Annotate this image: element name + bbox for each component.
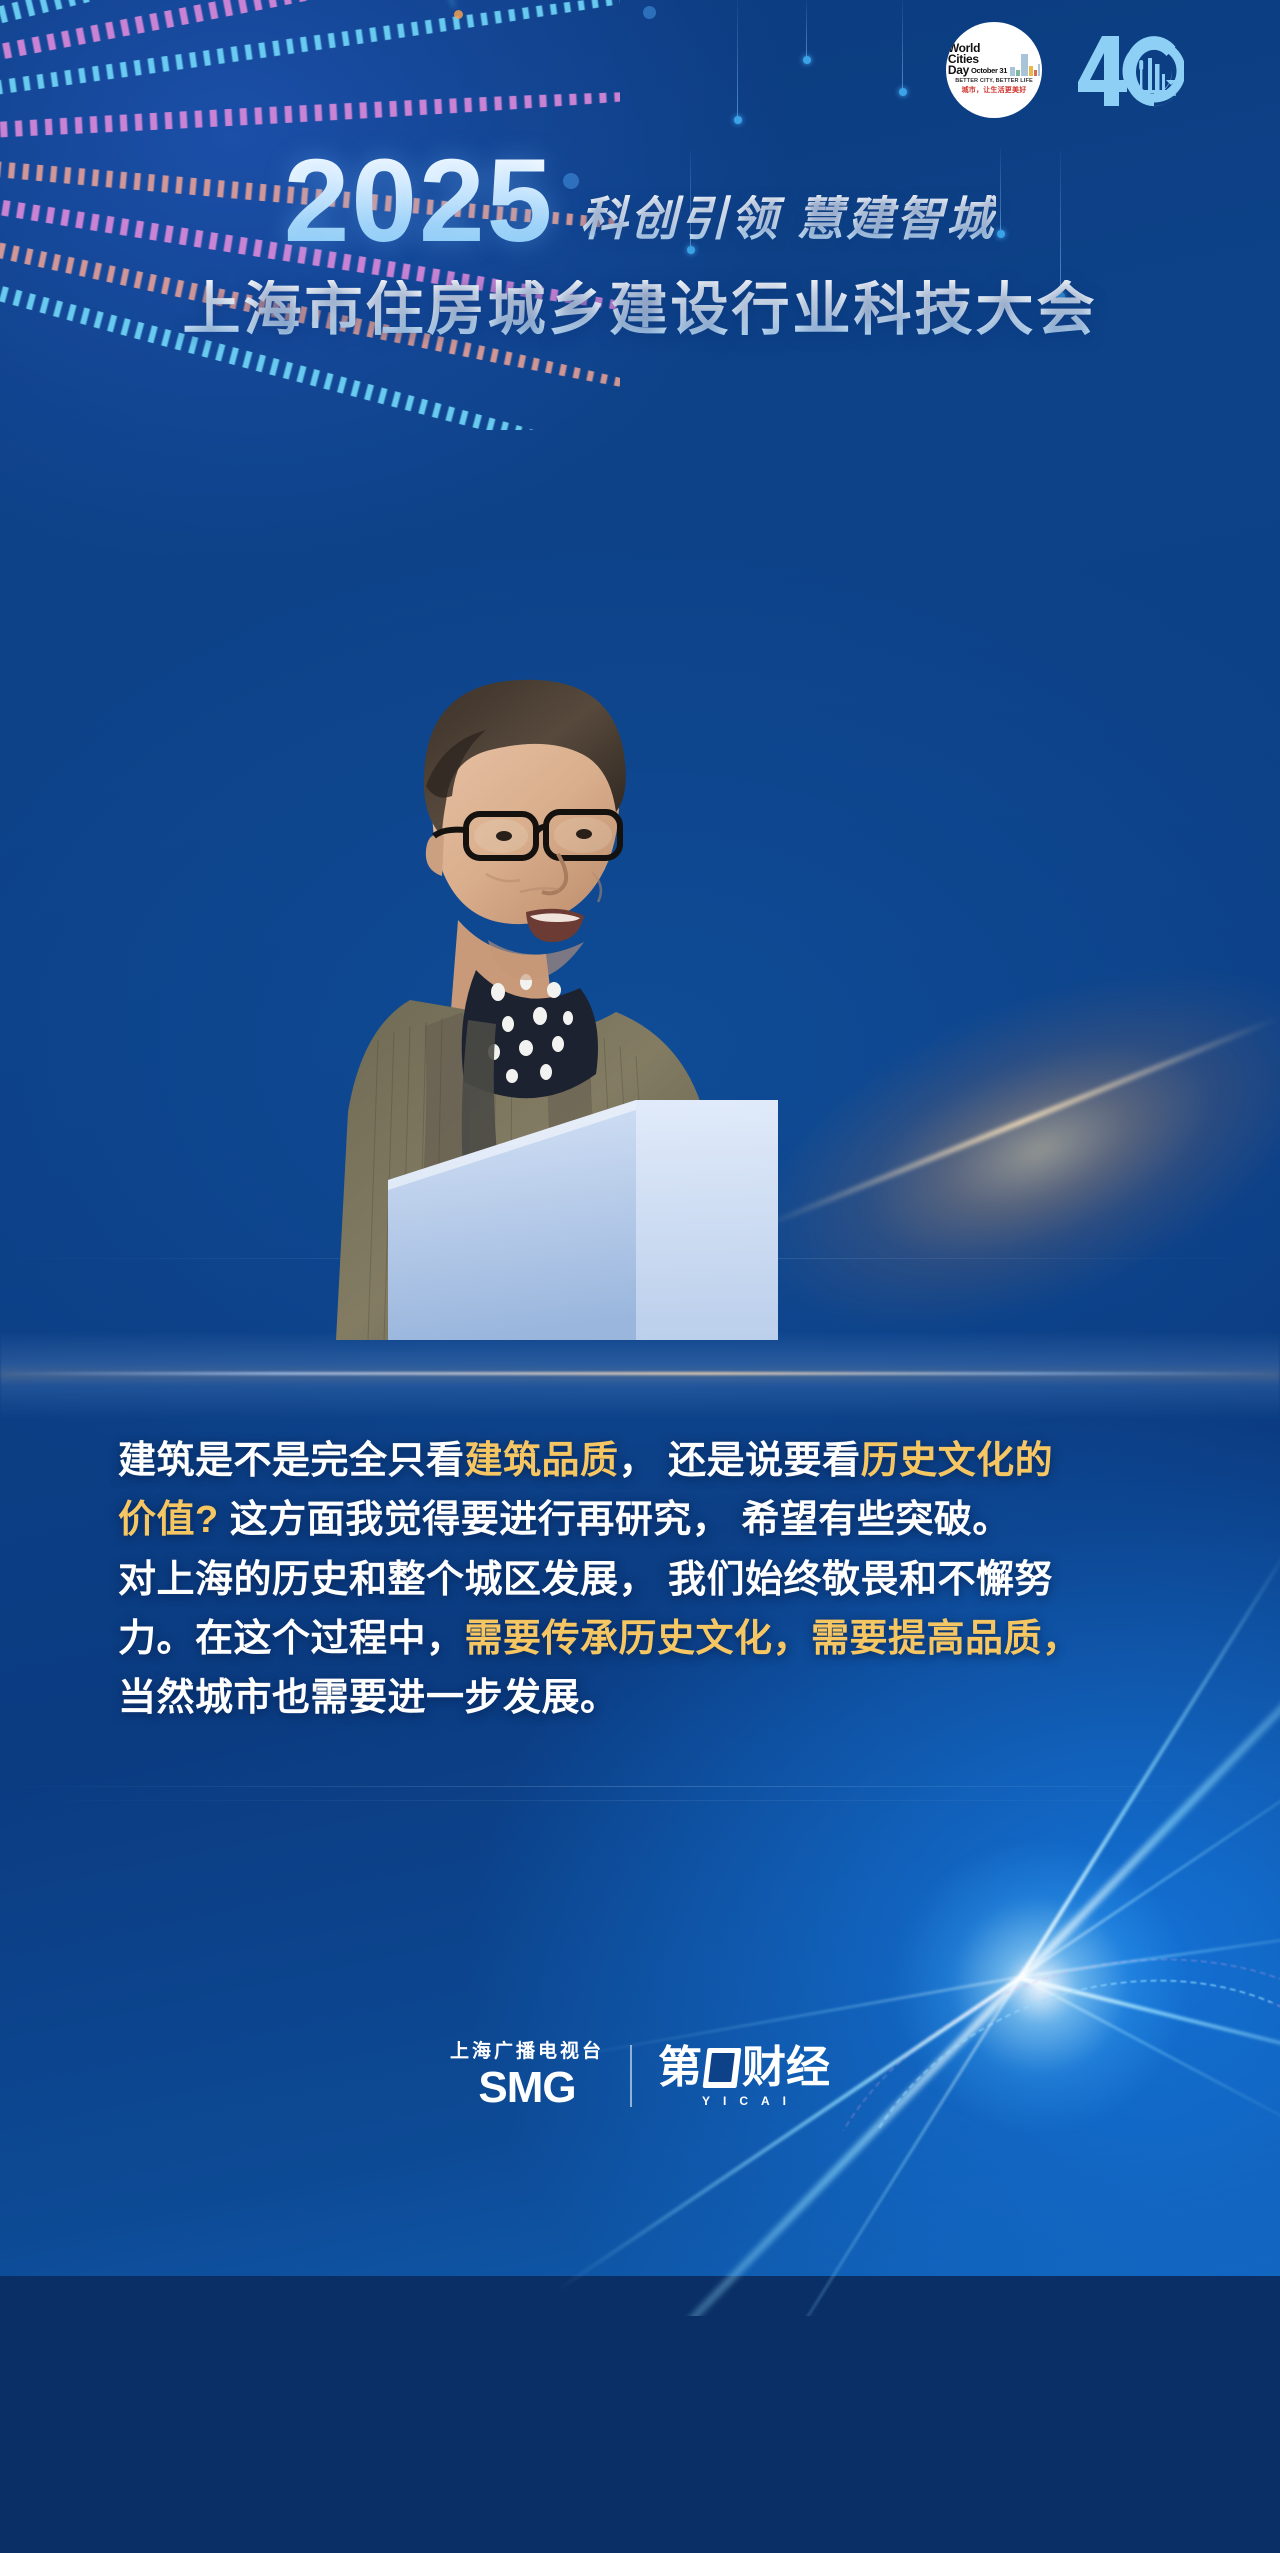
conference-tagline: 科创引领 慧建智城	[580, 195, 996, 254]
speaker-photo	[258, 640, 778, 1380]
smg-wordmark: SMG	[478, 2066, 575, 2110]
world-cities-day-logo: World Cities Day October 31 BETTER CITY,…	[946, 22, 1042, 118]
top-logo-group: World Cities Day October 31 BETTER CITY,…	[946, 22, 1184, 118]
wcd-tagline-en: BETTER CITY, BETTER LIFE	[955, 78, 1033, 84]
yicai-one-mark	[703, 2048, 742, 2088]
40-anniversary-logo	[1076, 30, 1184, 110]
quote-line: 建筑是不是完全只看建筑品质， 还是说要看历史文化的	[118, 1432, 1166, 1491]
quote-line: 价值? 这方面我觉得要进行再研究， 希望有些突破。	[118, 1491, 1166, 1550]
yicai-char-di: 第	[658, 2046, 702, 2090]
quote-text: ， 还是说要看	[619, 1440, 861, 1482]
wcd-date: October 31	[971, 68, 1007, 76]
wcd-tagline-cn: 城市，让生活更美好	[962, 85, 1027, 95]
quote-line: 当然城市也需要进一步发展。	[118, 1669, 1166, 1728]
city-skyline-icon	[1010, 50, 1040, 76]
quote-text: 当然城市也需要进一步发展。	[118, 1677, 619, 1719]
wcd-line3: Day	[948, 65, 969, 76]
quote-text: 这方面我觉得要进行再研究， 希望有些突破。	[219, 1499, 1011, 1541]
quote-highlight: 价值?	[118, 1499, 219, 1541]
quote-line: 力。在这个过程中，需要传承历史文化，需要提高品质，	[118, 1610, 1166, 1669]
quote-highlight: 建筑品质	[465, 1440, 619, 1482]
yicai-logo: 第 财经 YICAI	[658, 2046, 830, 2107]
yicai-char-caijing: 财经	[742, 2046, 830, 2090]
quote-text: 对上海的历史和整个城区发展， 我们始终敬畏和不懈努	[118, 1559, 1053, 1601]
year-title: 2025	[284, 148, 555, 254]
warm-lens-flare	[696, 895, 1280, 1405]
smg-chinese-name: 上海广播电视台	[450, 2042, 604, 2061]
conference-title: 上海市住房城乡建设行业科技大会	[0, 280, 1280, 341]
speaker-portrait-illustration	[258, 640, 778, 1380]
quote-highlight: 需要传承历史文化，需要提高品质，	[465, 1618, 1081, 1660]
speaker-title-columns: 全国工程勘察设计大师 华建集团上海建筑设计 研究院资深总设计师	[1000, 700, 1280, 961]
speaker-quote: 建筑是不是完全只看建筑品质， 还是说要看历史文化的价值? 这方面我觉得要进行再研…	[118, 1432, 1166, 1728]
footer-divider	[630, 2045, 632, 2107]
headline-block: 2025 科创引领 慧建智城 上海市住房城乡建设行业科技大会	[0, 148, 1280, 341]
quote-text: 力。在这个过程中，	[118, 1618, 465, 1660]
40-anniversary-icon	[1076, 30, 1184, 110]
quote-line: 对上海的历史和整个城区发展， 我们始终敬畏和不懈努	[118, 1551, 1166, 1610]
smg-logo: 上海广播电视台 SMG	[450, 2042, 604, 2110]
footer-logo-group: 上海广播电视台 SMG 第 财经 YICAI	[0, 2042, 1280, 2110]
speaker-identity-block: 唐玉恩 全国工程勘察设计大师 华建集团上海建筑设计 研究院资深总设计师	[900, 700, 1280, 961]
yicai-wordmark: YICAI	[689, 2095, 799, 2107]
quote-text: 建筑是不是完全只看	[118, 1440, 465, 1482]
quote-highlight: 历史文化的	[861, 1440, 1054, 1482]
